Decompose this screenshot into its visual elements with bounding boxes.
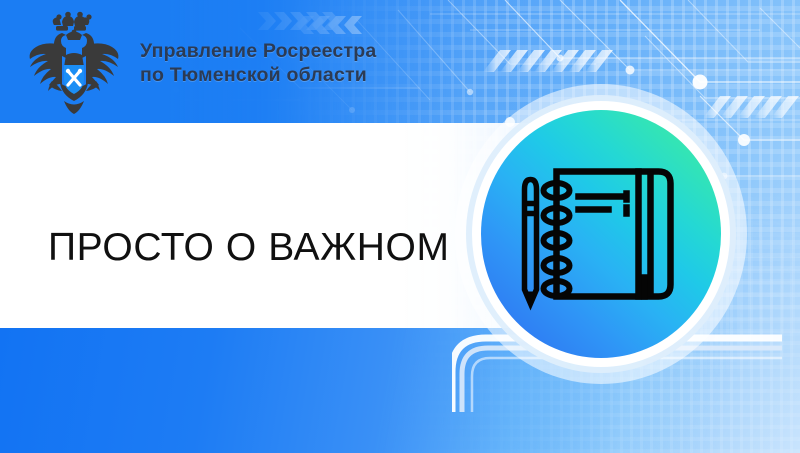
slide-canvas: Управление Росреестра по Тюменской облас… [0,0,800,453]
org-title-line-2: по Тюменской области [140,64,376,88]
spiral-notebook-with-pencil-icon [509,142,694,327]
page-title: ПРОСТО О ВАЖНОМ [48,226,450,270]
org-title-line-1: Управление Росреестра [140,40,376,64]
organization-title: Управление Росреестра по Тюменской облас… [140,40,376,88]
header: Управление Росреестра по Тюменской облас… [0,0,376,123]
hero-badge [455,84,747,384]
rosreestr-eagle-emblem-icon [18,7,130,117]
